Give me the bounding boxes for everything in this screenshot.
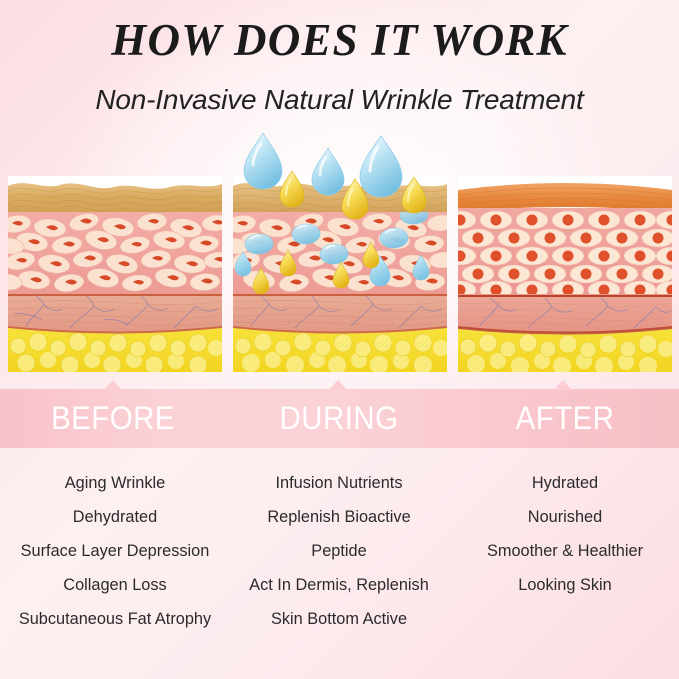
before-skin-diagram xyxy=(8,176,222,372)
list-item: Collagen Loss xyxy=(7,568,224,602)
skin-cross-section-after xyxy=(458,176,672,372)
water-droplet-icon xyxy=(360,136,402,197)
feature-list-row: Aging Wrinkle Dehydrated Surface Layer D… xyxy=(0,466,679,651)
serum-droplet-icon xyxy=(402,177,426,213)
list-item: Peptide xyxy=(231,534,448,568)
after-skin-diagram xyxy=(458,176,672,372)
list-item: Smoother & Healthier xyxy=(457,534,674,568)
list-item: Dehydrated xyxy=(7,500,224,534)
list-item: Nourished xyxy=(457,500,674,534)
water-droplet-icon xyxy=(312,148,344,195)
falling-droplets-group xyxy=(233,131,447,221)
list-item: Act In Dermis, Replenish xyxy=(231,568,448,602)
serum-droplet-icon xyxy=(280,171,304,207)
skin-cross-section-during xyxy=(233,176,447,372)
list-item: Skin Bottom Active xyxy=(231,602,448,636)
stage-label-before: BEFORE xyxy=(9,389,217,448)
page-title: HOW DOES IT WORK xyxy=(0,14,679,66)
after-illustration-clip xyxy=(458,176,672,372)
page-subtitle: Non-Invasive Natural Wrinkle Treatment xyxy=(0,84,679,116)
stage-label-during: DURING xyxy=(235,389,443,448)
list-item: Surface Layer Depression xyxy=(7,534,224,568)
list-item: Replenish Bioactive xyxy=(231,500,448,534)
infographic-page: HOW DOES IT WORK Non-Invasive Natural Wr… xyxy=(0,0,679,679)
skin-cross-section-before xyxy=(8,176,222,372)
list-item: Looking Skin xyxy=(457,568,674,602)
list-item: Aging Wrinkle xyxy=(7,466,224,500)
stage-label-after: AFTER xyxy=(461,389,669,448)
before-illustration-clip xyxy=(8,176,222,372)
feature-list-before: Aging Wrinkle Dehydrated Surface Layer D… xyxy=(2,466,228,636)
feature-list-during: Infusion Nutrients Replenish Bioactive P… xyxy=(226,466,452,636)
stage-label-band: BEFORE DURING AFTER xyxy=(0,389,679,448)
water-droplet-icon xyxy=(244,133,282,189)
list-item: Infusion Nutrients xyxy=(231,466,448,500)
list-item: Hydrated xyxy=(457,466,674,500)
list-item: Subcutaneous Fat Atrophy xyxy=(7,602,224,636)
feature-list-after: Hydrated Nourished Smoother & Healthier … xyxy=(452,466,678,602)
panel-row xyxy=(0,176,679,372)
